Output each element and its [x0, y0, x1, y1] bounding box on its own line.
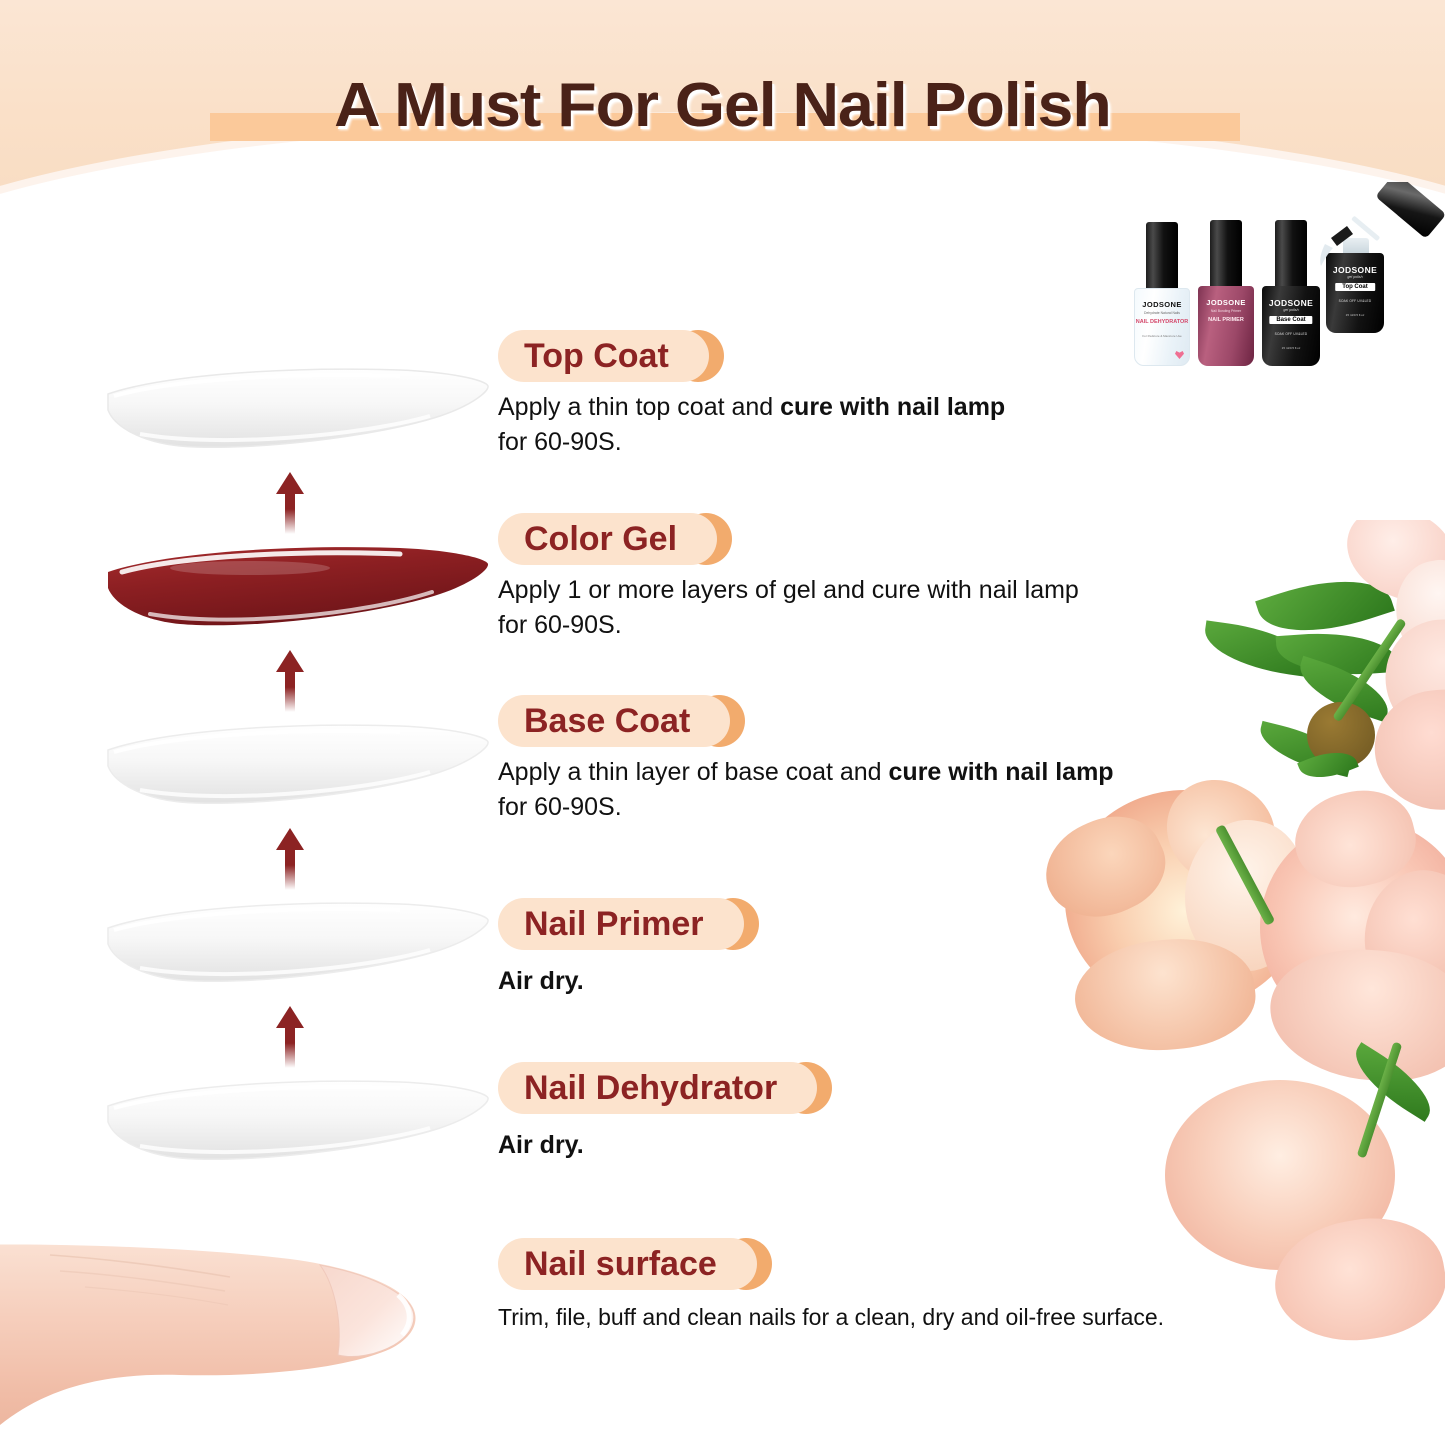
step-label-pill-color-gel[interactable]: Color Gel — [498, 513, 717, 565]
desc-part-plain: Apply a thin layer of base coat and — [498, 758, 889, 786]
bottle-volume: 15 ml/0.5 fl.oz — [1282, 346, 1301, 350]
step-nail-dehydrator: Nail Dehydrator Air dry. — [498, 1062, 817, 1163]
step-description-nail-primer: Air dry. — [498, 964, 744, 999]
step-base-coat: Base Coat Apply a thin layer of base coa… — [498, 695, 1114, 824]
bottle-brand: JODSONE — [1206, 298, 1245, 307]
step-description-color-gel: Apply 1 or more layers of gel and cure w… — [498, 573, 1079, 642]
bottle-brand: JODSONE — [1269, 298, 1313, 308]
bottle-cap — [1146, 222, 1178, 292]
bottle-fine-print: SOAK OFF UV&LED — [1339, 299, 1372, 303]
bottle-volume: 15 ml/0.5 fl.oz — [1346, 313, 1365, 317]
bottle-body: JODSONE gel polish Base Coat SOAK OFF UV… — [1262, 286, 1320, 366]
step-label-text: Nail Dehydrator — [524, 1069, 777, 1107]
bottle-body: JODSONE Dehydrate Natural Nails NAIL DEH… — [1134, 288, 1190, 366]
bottle-product-name: NAIL PRIMER — [1208, 317, 1244, 323]
desc-part-line2: for 60-90S. — [498, 793, 622, 821]
arrow-up-icon — [270, 648, 310, 712]
step-label-pill-nail-primer[interactable]: Nail Primer — [498, 898, 744, 950]
bottle-sub: gel polish — [1283, 308, 1298, 312]
step-label-pill-nail-dehydrator[interactable]: Nail Dehydrator — [498, 1062, 817, 1114]
step-label-text: Top Coat — [524, 337, 669, 375]
step-label-text: Nail surface — [524, 1245, 717, 1283]
bottle-sub: Dehydrate Natural Nails — [1144, 311, 1180, 315]
step-label-text: Color Gel — [524, 520, 677, 558]
desc-part-bold: cure with nail lamp — [780, 393, 1005, 421]
bottle-brand: JODSONE — [1142, 300, 1181, 309]
brush-applicator — [1305, 182, 1445, 272]
step-label-pill-nail-surface[interactable]: Nail surface — [498, 1238, 757, 1290]
bottle-cap — [1275, 220, 1307, 290]
step-label-text: Base Coat — [524, 702, 690, 740]
bottle-fine-print: For Pedicure & Manicure Use — [1142, 334, 1181, 338]
arrow-up-icon — [270, 826, 310, 890]
nail-layer-stack — [95, 350, 495, 1180]
desc-part-line2: for 60-90S. — [498, 428, 622, 456]
arrow-up-icon — [270, 470, 310, 534]
step-nail-primer: Nail Primer Air dry. — [498, 898, 744, 999]
arrow-up-icon — [270, 1004, 310, 1068]
desc-part-plain: Apply 1 or more layers of gel and cure w… — [498, 576, 1079, 604]
step-description-nail-surface: Trim, file, buff and clean nails for a c… — [498, 1302, 1164, 1334]
page-title: A Must For Gel Nail Polish — [334, 70, 1111, 141]
step-description-base-coat: Apply a thin layer of base coat and cure… — [498, 755, 1114, 824]
bottle-cap — [1210, 220, 1242, 290]
bottle-sub: Nail Bonding Primer — [1211, 309, 1241, 313]
step-description-top-coat: Apply a thin top coat and cure with nail… — [498, 390, 1005, 459]
bottle-dehydrator: JODSONE Dehydrate Natural Nails NAIL DEH… — [1134, 222, 1190, 367]
bottle-body: JODSONE Nail Bonding Primer NAIL PRIMER — [1198, 286, 1254, 366]
finger-illustration — [0, 1225, 470, 1445]
step-label-pill-top-coat[interactable]: Top Coat — [498, 330, 709, 382]
step-description-nail-dehydrator: Air dry. — [498, 1128, 817, 1163]
step-nail-surface: Nail surface Trim, file, buff and clean … — [498, 1238, 1164, 1334]
bottle-sub: gel polish — [1347, 275, 1362, 279]
nail-layer-top-coat — [100, 360, 490, 460]
step-top-coat: Top Coat Apply a thin top coat and cure … — [498, 330, 1005, 459]
step-label-pill-base-coat[interactable]: Base Coat — [498, 695, 730, 747]
step-color-gel: Color Gel Apply 1 or more layers of gel … — [498, 513, 1079, 642]
bottle-product-name: Base Coat — [1269, 316, 1312, 324]
bottle-primer: JODSONE Nail Bonding Primer NAIL PRIMER — [1198, 220, 1254, 368]
product-bottles-group: JODSONE Dehydrate Natural Nails NAIL DEH… — [1120, 180, 1445, 405]
nail-layer-color-gel — [100, 538, 490, 638]
nail-layer-base-coat — [100, 716, 490, 816]
nail-layer-nail-dehydrator — [100, 1072, 490, 1172]
bottle-product-name: NAIL DEHYDRATOR — [1136, 319, 1189, 325]
bottle-product-name: Top Coat — [1335, 283, 1375, 291]
desc-part-plain: Apply a thin top coat and — [498, 393, 780, 421]
desc-part-bold: cure with nail lamp — [889, 758, 1114, 786]
desc-part-line2: for 60-90S. — [498, 611, 622, 639]
bottle-fine-print: SOAK OFF UV&LED — [1275, 332, 1308, 336]
step-label-text: Nail Primer — [524, 905, 704, 943]
nail-layer-nail-primer — [100, 894, 490, 994]
